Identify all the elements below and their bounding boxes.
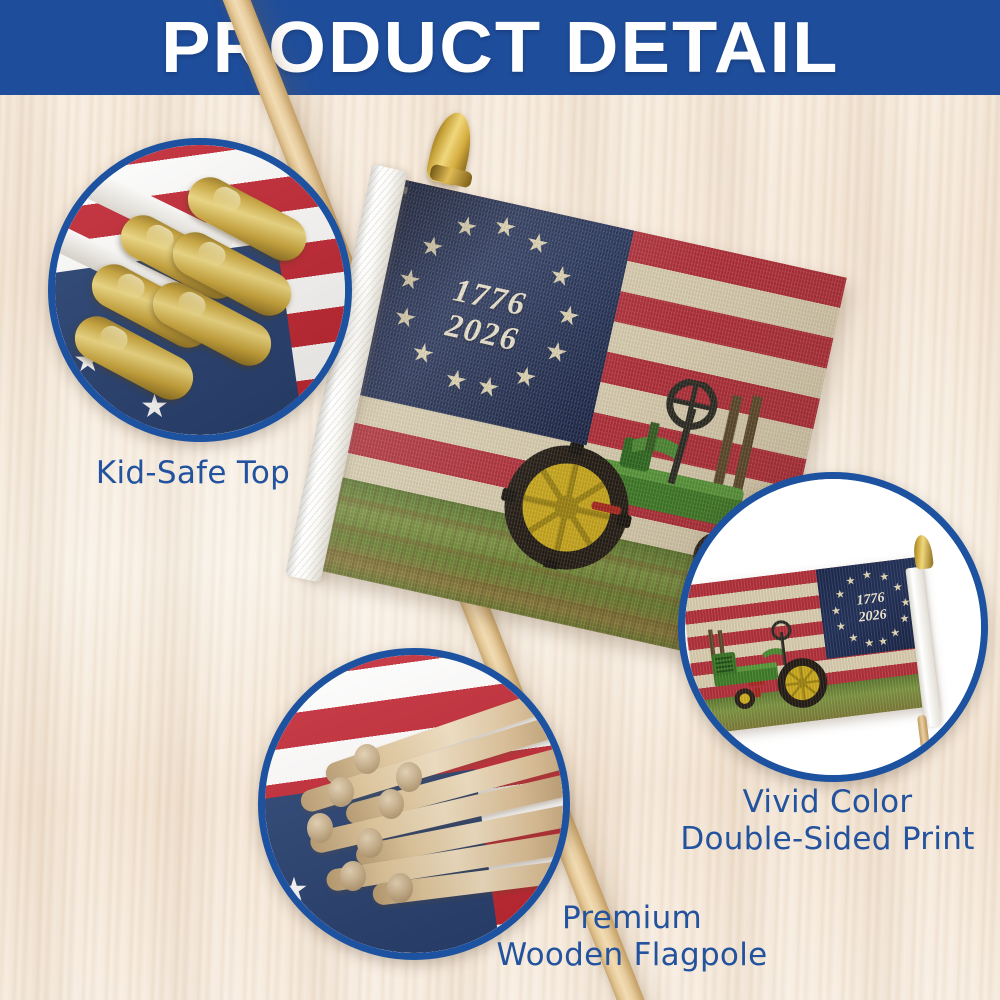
double-sided-print-photo: 1776 2026 [685, 479, 981, 775]
flag-year-bottom: 2026 [355, 288, 609, 379]
flag-year-top: 1776 [363, 253, 617, 344]
header-banner: PRODUCT DETAIL [0, 0, 1000, 95]
caption-premium-wooden-flagpole: Premium Wooden Flagpole [452, 900, 812, 974]
reverse-side-flag: 1776 2026 [685, 557, 935, 735]
caption-line: Kid-Safe Top [28, 455, 358, 492]
caption-line: Double-Sided Print [660, 821, 995, 858]
callout-kid-safe-top[interactable] [48, 138, 352, 442]
caption-kid-safe-top: Kid-Safe Top [28, 455, 358, 492]
caption-vivid-color-double-sided-print: Vivid Color Double-Sided Print [660, 784, 995, 858]
kid-safe-top-photo [55, 145, 345, 435]
caption-line: Wooden Flagpole [452, 937, 812, 974]
caption-line: Premium [452, 900, 812, 937]
product-detail-image: PRODUCT DETAIL [0, 0, 1000, 1000]
caption-line: Vivid Color [660, 784, 995, 821]
reverse-spear-tip [912, 534, 934, 570]
callout-vivid-color-double-sided-print[interactable]: 1776 2026 [678, 472, 988, 782]
